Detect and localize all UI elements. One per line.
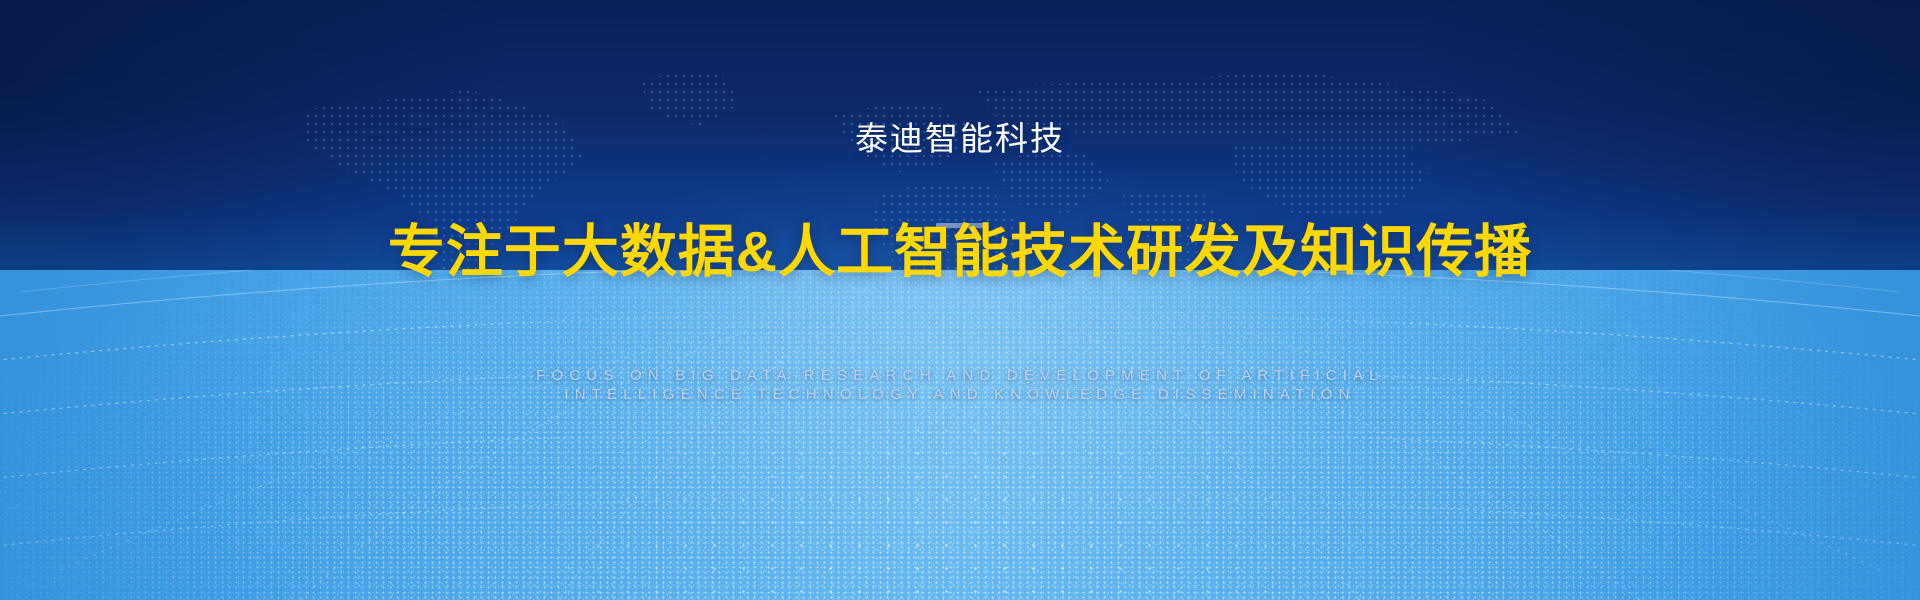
- banner-content: 泰迪智能科技 专注于大数据&人工智能技术研发及知识传播 FOCUS ON BIG…: [0, 0, 1920, 600]
- subtitle-line-2: INTELLIGENCE TECHNOLOGY AND KNOWLEDGE DI…: [0, 386, 1920, 403]
- headline: 专注于大数据&人工智能技术研发及知识传播: [0, 214, 1920, 291]
- hero-banner: 泰迪智能科技 专注于大数据&人工智能技术研发及知识传播 FOCUS ON BIG…: [0, 0, 1920, 600]
- subtitle-line-1: FOCUS ON BIG DATA-RESEARCH AND DEVELOPME…: [0, 367, 1920, 384]
- page-title: 泰迪智能科技: [0, 112, 1920, 160]
